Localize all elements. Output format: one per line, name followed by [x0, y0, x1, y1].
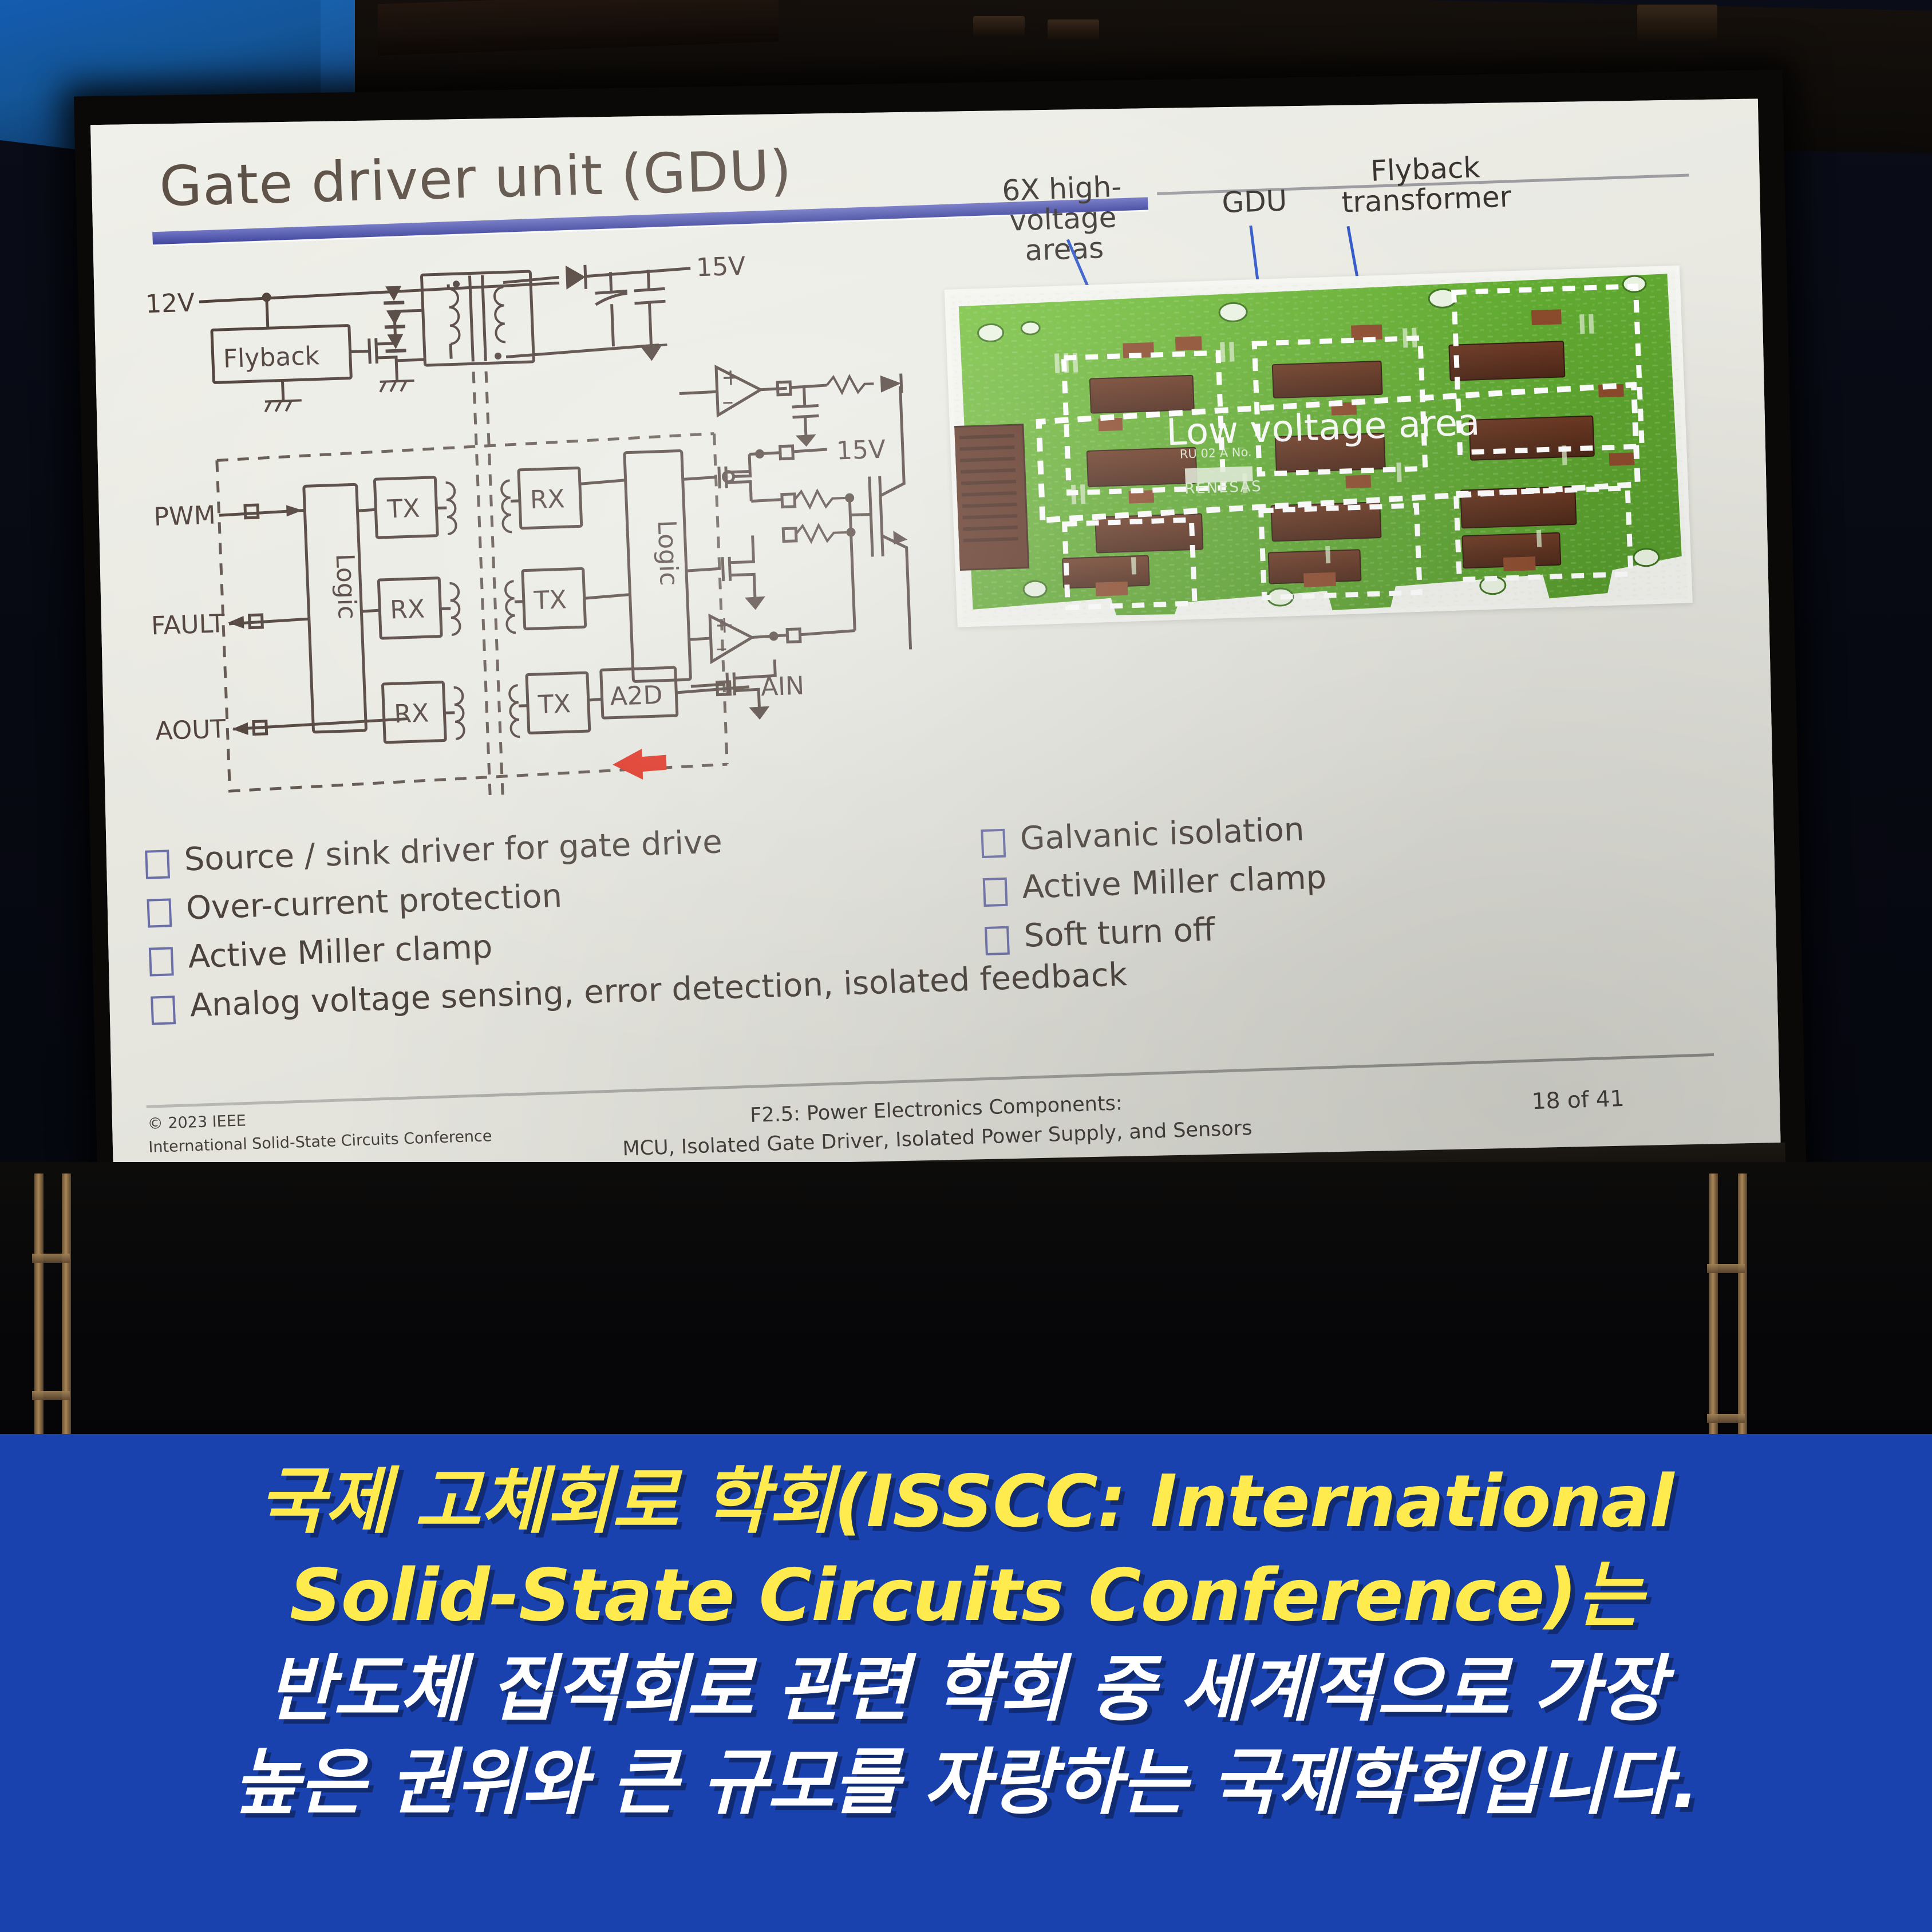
caption-text: 국제 고체회로 학회(ISSCC: International Solid-St…	[0, 1455, 1932, 1830]
truss-brace	[32, 1391, 70, 1400]
photo-scene: Gate driver unit (GDU) .w{stroke:#4a3b34…	[0, 0, 1932, 1932]
bullets-right-column: Galvanic isolation Active Miller clamp S…	[981, 810, 1330, 967]
annotation-flyback-transformer: Flyback transformer	[1316, 151, 1536, 219]
caption-line-2: Solid-State Circuits Conference)는	[0, 1548, 1932, 1642]
bullet-text: Over-current protection	[185, 878, 563, 927]
ceiling-light-icon	[973, 16, 1025, 37]
checkbox-icon	[983, 878, 1008, 907]
label-rx-row1: RX	[530, 484, 566, 515]
footer-copyright: © 2023 IEEE International Solid-State Ci…	[147, 1101, 492, 1159]
checkbox-icon	[981, 829, 1006, 858]
label-12v: 12V	[145, 288, 195, 319]
projection-screen: Gate driver unit (GDU) .w{stroke:#4a3b34…	[74, 70, 1807, 1210]
gdu-block-diagram: .w{stroke:#4a3b34;stroke-width:5;fill:no…	[123, 214, 941, 823]
label-tx-row2: TX	[533, 585, 567, 615]
label-aout: AOUT	[155, 714, 226, 746]
label-15v-top: 15V	[696, 252, 746, 283]
bullet-text: Active Miller clamp	[1021, 859, 1327, 906]
slide-title: Gate driver unit (GDU)	[159, 138, 793, 219]
red-arrow-icon	[612, 748, 667, 781]
checkbox-icon	[985, 926, 1010, 955]
label-rx-row3: RX	[393, 698, 429, 729]
label-tx-row1: TX	[386, 494, 420, 524]
truss-brace	[1707, 1414, 1745, 1423]
checkbox-icon	[151, 995, 176, 1025]
bullet-item: Active Miller clamp	[982, 859, 1327, 907]
annotation-gdu: GDU	[1196, 185, 1312, 219]
label-logic-left: Logic	[330, 553, 361, 620]
truss-brace	[32, 1254, 70, 1263]
svg-text:RENESAS: RENESAS	[1184, 478, 1263, 497]
label-rx-row2: RX	[389, 594, 425, 625]
bullet-text: Active Miller clamp	[187, 929, 493, 976]
label-tx-row3: TX	[537, 689, 571, 720]
svg-text:–: –	[722, 388, 734, 415]
bullet-text: Source / sink driver for gate drive	[184, 823, 723, 878]
truss-leg-right-inner	[1738, 1174, 1747, 1437]
screen-canvas: Gate driver unit (GDU) .w{stroke:#4a3b34…	[90, 98, 1781, 1196]
caption-line-4: 높은 권위와 큰 규모를 자랑하는 국제학회입니다.	[0, 1736, 1932, 1830]
svg-text:+: +	[721, 364, 741, 391]
pcb-photo: RU 02 A No. RENESAS Low voltage area	[945, 265, 1693, 627]
label-flyback: Flyback	[223, 341, 321, 374]
checkbox-icon	[149, 947, 174, 976]
footer-page-number: 18 of 41	[1531, 1086, 1625, 1115]
label-fault: FAULT	[151, 609, 226, 641]
label-15v-mid: 15V	[836, 435, 886, 466]
checkbox-icon	[147, 898, 172, 927]
svg-text:–: –	[715, 635, 728, 662]
annotation-high-voltage-areas: 6X high- voltage areas	[967, 171, 1159, 268]
below-screen-area	[0, 1162, 1932, 1437]
korean-caption-bar: 국제 고체회로 학회(ISSCC: International Solid-St…	[0, 1434, 1932, 1932]
caption-line-1: 국제 고체회로 학회(ISSCC: International	[0, 1455, 1932, 1548]
label-logic-right: Logic	[651, 520, 683, 587]
footer-session: F2.5: Power Electronics Components: MCU,…	[598, 1084, 1275, 1165]
truss-leg-right	[1709, 1174, 1718, 1437]
label-pwm: PWM	[153, 500, 216, 532]
checkbox-icon	[145, 850, 170, 879]
caption-line-3: 반도체 집적회로 관련 학회 중 세계적으로 가장	[0, 1642, 1932, 1736]
ceiling-light-icon	[1637, 5, 1717, 41]
presentation-slide: Gate driver unit (GDU) .w{stroke:#4a3b34…	[90, 98, 1781, 1196]
bullets-left-column: Source / sink driver for gate drive Over…	[145, 810, 1128, 1037]
truss-brace	[1707, 1264, 1745, 1273]
ceiling-light-icon	[1048, 19, 1099, 40]
feature-bullets: Source / sink driver for gate drive Over…	[106, 808, 1779, 1081]
bullet-item: Soft turn off	[984, 907, 1329, 956]
label-a2d: A2D	[610, 681, 663, 712]
bullet-text: Soft turn off	[1023, 911, 1215, 955]
